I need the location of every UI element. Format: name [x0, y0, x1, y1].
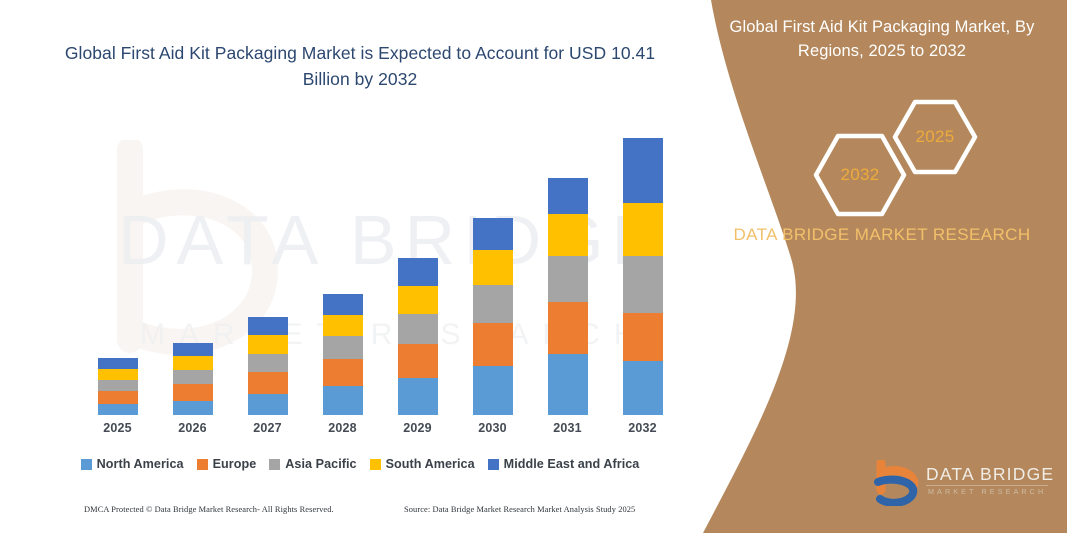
stacked-bar-plot — [80, 120, 680, 415]
brand-name: DATA BRIDGE MARKET RESEARCH — [712, 222, 1052, 248]
page-title: Global First Aid Kit Packaging Market is… — [60, 40, 660, 93]
data-bridge-logo-icon — [872, 460, 922, 506]
bar-segment — [548, 302, 588, 354]
brand-logo: DATA BRIDGE MARKET RESEARCH — [872, 458, 1057, 510]
bar-segment — [173, 370, 213, 384]
legend-swatch-icon — [197, 459, 208, 470]
bar-segment — [548, 178, 588, 214]
bar-segment — [473, 366, 513, 415]
legend-item[interactable]: South America — [370, 457, 475, 471]
bar-segment — [548, 354, 588, 415]
x-axis-label-2029: 2029 — [388, 421, 448, 435]
bar-segment — [398, 286, 438, 314]
bar-segment — [98, 358, 138, 369]
legend-label: South America — [386, 457, 475, 471]
infographic-root: DATA BRIDGE MARKET RESEARCH Global First… — [0, 0, 1067, 533]
bar-segment — [398, 258, 438, 286]
legend-label: Asia Pacific — [285, 457, 356, 471]
bar-segment — [98, 391, 138, 404]
bar-segment — [548, 256, 588, 302]
bar-segment — [173, 384, 213, 401]
bar-segment — [398, 378, 438, 415]
bar-segment — [323, 386, 363, 415]
bar-segment — [173, 343, 213, 356]
bar-segment — [398, 314, 438, 344]
footer-source: Source: Data Bridge Market Research Mark… — [404, 505, 635, 514]
legend-item[interactable]: Europe — [197, 457, 257, 471]
bar-segment — [248, 372, 288, 394]
x-axis-label-2030: 2030 — [463, 421, 523, 435]
bar-segment — [623, 361, 663, 415]
x-axis-labels: 20252026202720282029203020312032 — [80, 421, 680, 443]
bar-segment — [173, 356, 213, 370]
bar-segment — [473, 250, 513, 285]
bar-segment — [248, 354, 288, 372]
bar-segment — [623, 313, 663, 361]
bar-segment — [248, 317, 288, 335]
brand-logo-divider — [926, 485, 1048, 486]
bar-2030 — [473, 218, 513, 415]
chart-legend: North AmericaEuropeAsia PacificSouth Ame… — [0, 452, 720, 476]
footer-copyright: DMCA Protected © Data Bridge Market Rese… — [84, 505, 334, 514]
bar-segment — [98, 380, 138, 391]
bar-segment — [323, 336, 363, 359]
x-axis-label-2032: 2032 — [613, 421, 673, 435]
bar-2031 — [548, 178, 588, 415]
legend-label: Europe — [213, 457, 257, 471]
brand-panel-content: Global First Aid Kit Packaging Market, B… — [687, 0, 1067, 533]
bar-segment — [173, 401, 213, 415]
panel-title: Global First Aid Kit Packaging Market, B… — [717, 16, 1047, 64]
bar-2032 — [623, 138, 663, 415]
legend-label: Middle East and Africa — [504, 457, 640, 471]
bar-segment — [323, 315, 363, 336]
bar-segment — [323, 294, 363, 315]
legend-item[interactable]: North America — [81, 457, 184, 471]
chart-panel: DATA BRIDGE MARKET RESEARCH Global First… — [0, 0, 720, 533]
bar-2028 — [323, 294, 363, 415]
x-axis-label-2027: 2027 — [238, 421, 298, 435]
bar-segment — [473, 323, 513, 366]
bar-2027 — [248, 317, 288, 415]
bar-segment — [623, 256, 663, 313]
bar-segment — [248, 394, 288, 415]
legend-swatch-icon — [269, 459, 280, 470]
bar-segment — [98, 404, 138, 415]
bar-segment — [473, 285, 513, 323]
x-axis-label-2031: 2031 — [538, 421, 598, 435]
bar-2029 — [398, 258, 438, 415]
legend-swatch-icon — [488, 459, 499, 470]
bar-2026 — [173, 343, 213, 415]
bar-2025 — [98, 358, 138, 415]
brand-logo-subtext: MARKET RESEARCH — [928, 487, 1046, 496]
bar-segment — [323, 359, 363, 386]
brand-logo-wordmark: DATA BRIDGE — [926, 464, 1054, 485]
bar-segment — [473, 218, 513, 250]
bar-segment — [623, 203, 663, 256]
x-axis-label-2028: 2028 — [313, 421, 373, 435]
hexagon-badge-2032: 2032 — [812, 132, 908, 218]
bar-segment — [398, 344, 438, 378]
bar-segment — [548, 214, 588, 256]
legend-item[interactable]: Asia Pacific — [269, 457, 356, 471]
legend-item[interactable]: Middle East and Africa — [488, 457, 640, 471]
legend-swatch-icon — [81, 459, 92, 470]
bar-segment — [623, 138, 663, 203]
bar-segment — [248, 335, 288, 354]
brand-panel: Global First Aid Kit Packaging Market, B… — [687, 0, 1067, 533]
legend-label: North America — [97, 457, 184, 471]
x-axis-label-2025: 2025 — [88, 421, 148, 435]
legend-swatch-icon — [370, 459, 381, 470]
hexagon-badge-2032-label: 2032 — [812, 132, 908, 218]
bar-segment — [98, 369, 138, 380]
footer: DMCA Protected © Data Bridge Market Rese… — [0, 505, 700, 527]
x-axis-label-2026: 2026 — [163, 421, 223, 435]
